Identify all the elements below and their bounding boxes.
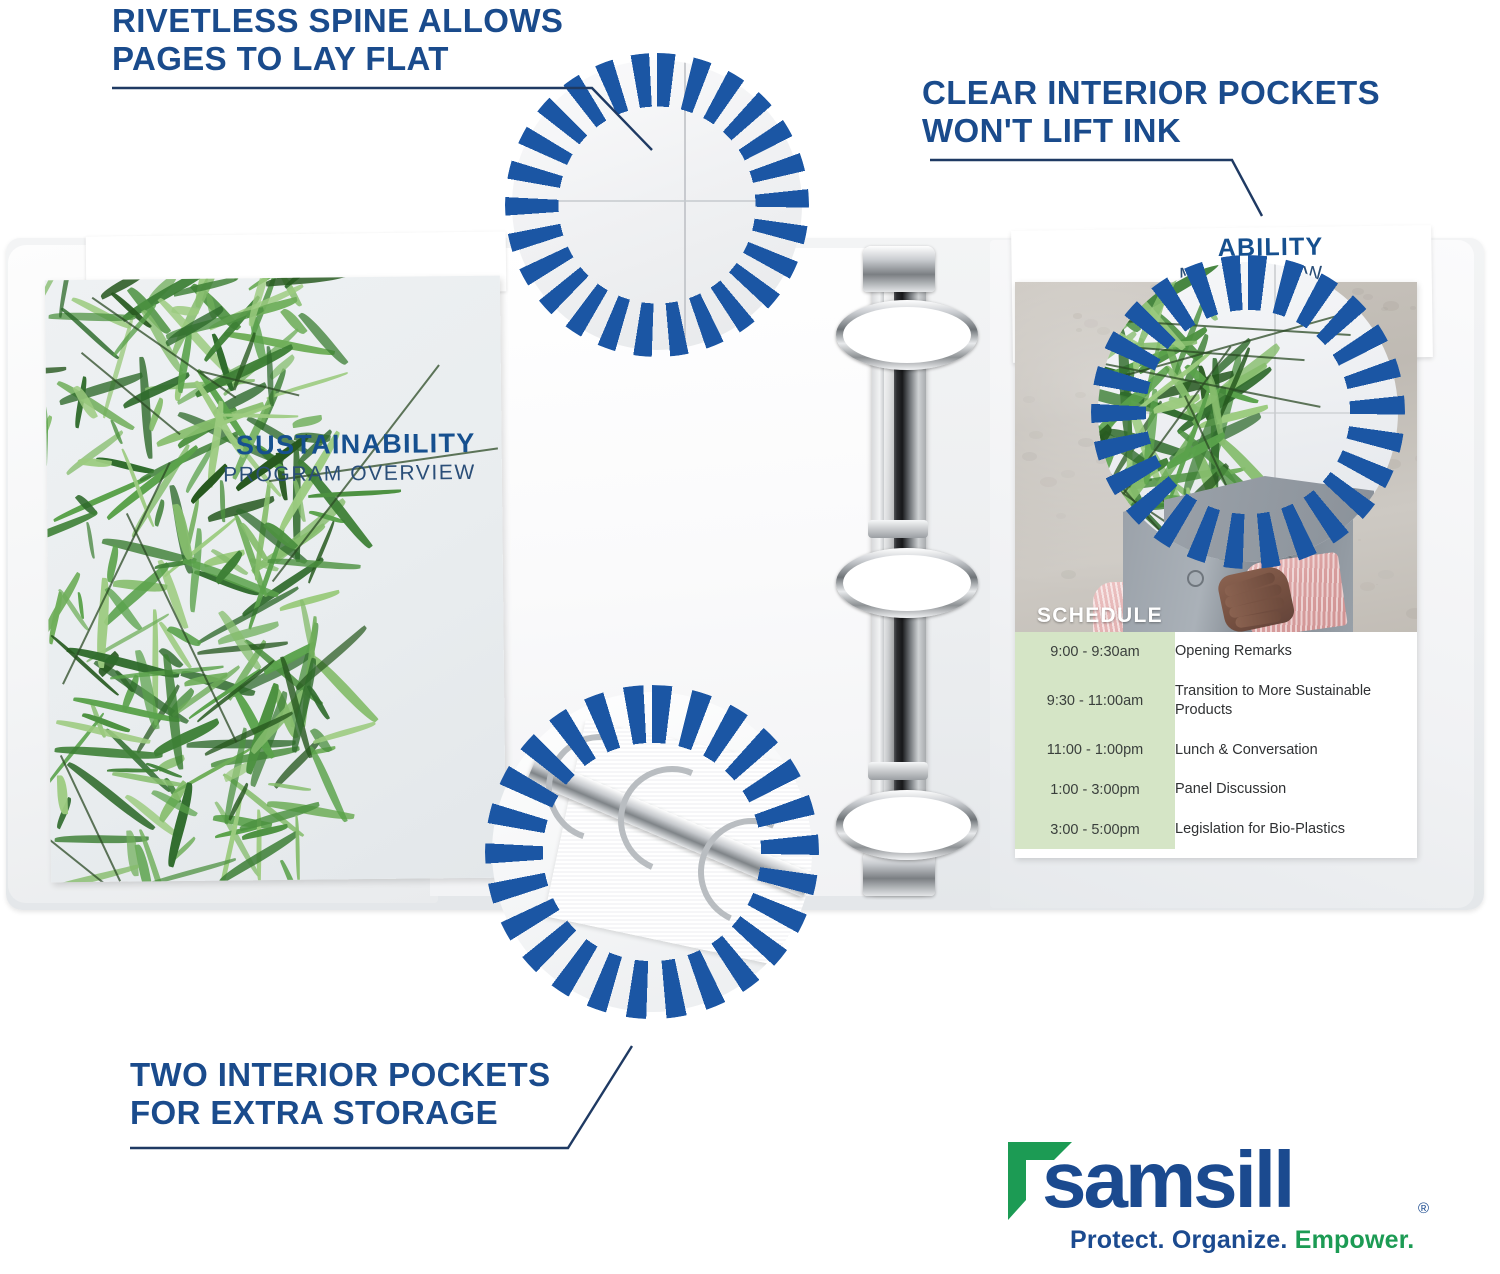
wall-texture-speck [1029, 431, 1042, 439]
bamboo-leaf [45, 367, 66, 375]
wall-texture-speck [1406, 608, 1417, 619]
wall-texture-speck [1383, 301, 1400, 311]
wall-texture-speck [1378, 570, 1394, 580]
schedule-time: 9:30 - 11:00am [1015, 672, 1175, 731]
cover-insert-sustainability: SUSTAINABILITY PROGRAM OVERVIEW [45, 276, 506, 883]
callout-pockets: CLEAR INTERIOR POCKETS WON'T LIFT INK [922, 74, 1380, 149]
wall-texture-speck [1061, 570, 1076, 579]
wall-texture-speck [1415, 454, 1417, 463]
schedule-table-wrap: 9:00 - 9:30amOpening Remarks9:30 - 11:00… [1015, 632, 1417, 849]
wall-texture-speck [1040, 477, 1057, 487]
callout-pockets-line1: CLEAR INTERIOR POCKETS [922, 74, 1380, 112]
logo-wordmark: samsill [1042, 1140, 1292, 1220]
wall-texture-speck [1076, 328, 1082, 332]
tagline-blue: Protect. Organize. [1070, 1226, 1288, 1254]
wall-texture-speck [1056, 513, 1066, 519]
magnifier-ring-border [485, 685, 819, 1019]
wall-texture-speck [1073, 313, 1082, 318]
wall-texture-speck [1410, 306, 1417, 310]
schedule-row: 1:00 - 3:00pmPanel Discussion [1015, 770, 1417, 810]
schedule-heading: SCHEDULE [1037, 604, 1163, 628]
registered-mark: ® [1418, 1200, 1429, 1217]
bamboo-leaf [55, 743, 164, 762]
binder-hole-left [1187, 570, 1204, 587]
wall-texture-speck [1023, 396, 1035, 403]
wall-texture-speck [1352, 288, 1364, 295]
cover-title-block: SUSTAINABILITY PROGRAM OVERVIEW [46, 428, 476, 489]
callout-spine-line1: RIVETLESS SPINE ALLOWS [112, 2, 563, 40]
ring-lever-lower [868, 762, 928, 780]
schedule-table: 9:00 - 9:30amOpening Remarks9:30 - 11:00… [1015, 632, 1417, 849]
binder-ring-3 [836, 790, 978, 860]
product-feature-graphic: SUSTAINABILITY PROGRAM OVERVIEW ABILITY … [0, 0, 1500, 1274]
schedule-event: Transition to More Sustainable Products [1175, 672, 1417, 731]
callout-storage: TWO INTERIOR POCKETS FOR EXTRA STORAGE [130, 1056, 551, 1131]
bamboo-leaf [265, 276, 351, 287]
bamboo-leaf [298, 310, 349, 369]
schedule-event: Lunch & Conversation [1175, 731, 1417, 771]
cover-title: SUSTAINABILITY [46, 428, 475, 463]
wall-texture-speck [1078, 438, 1093, 447]
schedule-time: 9:00 - 9:30am [1015, 632, 1175, 672]
tagline-green: Empower. [1295, 1226, 1415, 1254]
callout-storage-line1: TWO INTERIOR POCKETS [130, 1056, 551, 1094]
bamboo-foliage [45, 276, 381, 883]
schedule-row: 3:00 - 5:00pmLegislation for Bio-Plastic… [1015, 810, 1417, 850]
schedule-row: 9:30 - 11:00amTransition to More Sustain… [1015, 672, 1417, 731]
wall-texture-speck [1363, 294, 1373, 300]
wall-texture-speck [1061, 470, 1075, 478]
wall-texture-speck [1360, 582, 1375, 591]
schedule-event: Panel Discussion [1175, 770, 1417, 810]
schedule-event: Legislation for Bio-Plastics [1175, 810, 1417, 850]
bamboo-leaf [295, 815, 300, 883]
wall-texture-speck [1376, 584, 1379, 586]
schedule-row: 11:00 - 1:00pmLunch & Conversation [1015, 731, 1417, 771]
wall-texture-speck [1075, 392, 1086, 398]
schedule-row: 9:00 - 9:30amOpening Remarks [1015, 632, 1417, 672]
logo-tagline: Protect. Organize. Empower. [1070, 1226, 1414, 1255]
callout-storage-line2: FOR EXTRA STORAGE [130, 1094, 551, 1132]
binder-ring-2 [836, 548, 978, 618]
bamboo-leaf [86, 522, 95, 559]
wall-texture-speck [1084, 319, 1098, 327]
schedule-time: 1:00 - 3:00pm [1015, 770, 1175, 810]
callout-spine-line2: PAGES TO LAY FLAT [112, 40, 563, 78]
binder-ring-1 [836, 300, 978, 370]
magnifier-pocket-border [1091, 255, 1405, 569]
ring-clamp-top [863, 246, 935, 292]
callout-spine: RIVETLESS SPINE ALLOWS PAGES TO LAY FLAT [112, 2, 563, 77]
leader-line-pockets [930, 160, 1262, 216]
schedule-time: 11:00 - 1:00pm [1015, 731, 1175, 771]
ring-lever-upper [868, 520, 928, 538]
schedule-time: 3:00 - 5:00pm [1015, 810, 1175, 850]
magnifier-spine-border [505, 53, 809, 357]
bamboo-leaf [57, 775, 68, 814]
callout-pockets-line2: WON'T LIFT INK [922, 112, 1380, 150]
cover-subtitle: PROGRAM OVERVIEW [47, 461, 476, 489]
schedule-event: Opening Remarks [1175, 632, 1417, 672]
wall-texture-speck [1022, 452, 1037, 461]
samsill-logo: samsill ® Protect. Organize. Empower. [1000, 1138, 1452, 1260]
